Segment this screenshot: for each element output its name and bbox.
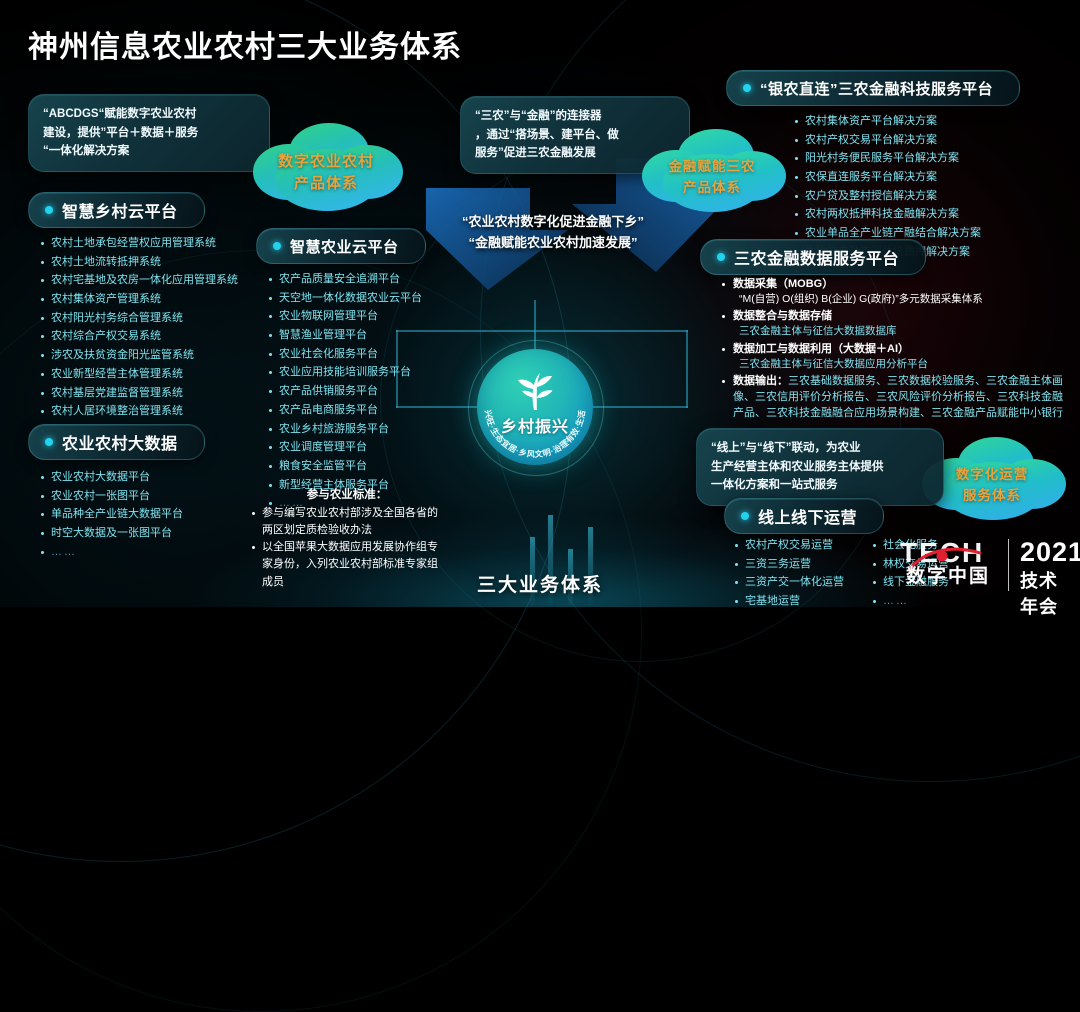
page-title: 神州信息农业农村三大业务体系 (28, 22, 462, 66)
group-sub: 三农金融主体与征信大数据数据库 (733, 324, 1070, 339)
list-item: 农村人居环境整治管理系统 (40, 402, 238, 421)
section-header-online-offline-operation[interactable]: 线上线下运营 (724, 498, 884, 534)
connector-horizontal (396, 330, 688, 332)
callout-line: 一体化方案和一站式服务 (711, 476, 929, 495)
list-smart-agriculture-cloud: 农产品质量安全追溯平台 天空地一体化数据农业云平台 农业物联网管理平台 智慧渔业… (268, 270, 422, 513)
output-text: 数据输出：三农基础数据服务、三农数据校验服务、三农金融主体画像、三农信用评价分析… (733, 373, 1070, 421)
online-offline-callout: “线上”与“线下”联动，为农业 生产经营主体和农业服务主体提供 一体化方案和一站… (696, 428, 944, 506)
bullet-dot-icon (717, 253, 725, 261)
svg-text:产业兴旺·生态宜居·乡风文明·治理有效·生活富裕: 产业兴旺·生态宜居·乡风文明·治理有效·生活富裕 (470, 339, 587, 459)
finance-group: 数据整合与数据存储 三农金融主体与征信大数据数据库 (722, 308, 1070, 339)
list-item: 农村两权抵押科技金融解决方案 (794, 205, 981, 224)
section-title: 线上线下运营 (758, 504, 857, 528)
standards-title: 参与农业标准： (252, 486, 442, 502)
callout-line: “线上”与“线下”联动，为农业 (711, 439, 929, 458)
list-item: 涉农及扶贫资金阳光监管系统 (40, 346, 238, 365)
group-heading: 数据加工与数据利用（大数据＋AI） (733, 341, 1070, 357)
list-item: 时空大数据及一张图平台 (40, 524, 183, 543)
emblem-ring-text: 产业兴旺·生态宜居·乡风文明·治理有效·生活富裕 (475, 347, 595, 467)
bullet-dot-icon (741, 512, 749, 520)
bullet-dot-icon (273, 242, 281, 250)
section-header-agriculture-big-data[interactable]: 农业农村大数据 (28, 424, 205, 460)
list-item: 农村宅基地及农房一体化应用管理系统 (40, 271, 238, 290)
section-title: 智慧乡村云平台 (62, 198, 178, 222)
connector-right (592, 406, 688, 408)
list-item: 农村集体资产平台解决方案 (794, 112, 981, 131)
list-item: 阳光村务便民服务平台解决方案 (794, 149, 981, 168)
logo-conference: 技术年会 (1020, 567, 1070, 619)
standards-item: 参与编写农业农村部涉及全国各省的两区划定质检验收办法 (252, 505, 442, 539)
list-item-ellipsis: …… (40, 543, 183, 562)
center-quote-line-2: “金融赋能农业农村加速发展” (428, 233, 678, 254)
bullet-dot-icon (45, 206, 53, 214)
callout-line: 建设，提供”平台＋数据＋服务 (43, 124, 255, 143)
callout-line: “三农”与“金融”的连接器 (475, 107, 675, 126)
logo-divider (1008, 539, 1009, 591)
group-heading: 数据整合与数据存储 (733, 308, 1070, 324)
rural-revitalization-emblem: 产业兴旺·生态宜居·乡风文明·治理有效·生活富裕 乡村振兴 (477, 349, 593, 465)
group-sub: 三农金融主体与征信大数据应用分析平台 (733, 357, 1070, 372)
bullet-dot-icon (45, 438, 53, 446)
list-item: 农业社会化服务平台 (268, 345, 422, 364)
list-item: 农业物联网管理平台 (268, 307, 422, 326)
list-item: 农业农村一张图平台 (40, 487, 183, 506)
list-item: 单品种全产业链大数据平台 (40, 505, 183, 524)
finance-enable-sannong-cloud: 金融赋能三农 产品体系 (634, 125, 790, 217)
list-item: 农村综合产权交易系统 (40, 327, 238, 346)
finance-output-group: 数据输出：三农基础数据服务、三农数据校验服务、三农金融主体画像、三农信用评价分析… (722, 373, 1070, 421)
output-label: 数据输出： (733, 375, 788, 387)
group-sub: “M(自营) O(组织) B(企业) G(政府)”多元数据采集体系 (733, 292, 1070, 307)
section-header-smart-village-cloud[interactable]: 智慧乡村云平台 (28, 192, 205, 228)
list-item: 农村产权交易运营 (734, 536, 844, 555)
list-item: 农户贷及整村授信解决方案 (794, 187, 981, 206)
list-item: 农业应用技能培训服务平台 (268, 363, 422, 382)
list-item: 农保直连服务平台解决方案 (794, 168, 981, 187)
list-sannong-finance-data: 数据采集（MOBG） “M(自营) O(组织) B(企业) G(政府)”多元数据… (722, 276, 1070, 422)
list-item: 农业农村大数据平台 (40, 468, 183, 487)
finance-group: 数据加工与数据利用（大数据＋AI） 三农金融主体与征信大数据应用分析平台 (722, 341, 1070, 372)
list-item: 粮食安全监管平台 (268, 457, 422, 476)
center-quote: “农业农村数字化促进金融下乡” “金融赋能农业农村加速发展” (428, 212, 678, 254)
group-heading: 数据采集（MOBG） (733, 276, 1070, 292)
callout-line: 生产经营主体和农业服务主体提供 (711, 458, 929, 477)
section-title: 三农金融数据服务平台 (734, 245, 899, 269)
list-item: 农村土地承包经营权应用管理系统 (40, 234, 238, 253)
conference-logo: TECH 数字中国 2021 技术年会 (900, 535, 1070, 597)
ring-text-content: 产业兴旺·生态宜居·乡风文明·治理有效·生活富裕 (470, 339, 587, 459)
emblem-title: 乡村振兴 (477, 413, 593, 437)
section-title: 农业农村大数据 (62, 430, 178, 454)
callout-line: “ABCDGS“赋能数字农业农村 (43, 105, 255, 124)
slide-canvas: 神州信息农业农村三大业务体系 “ABCDGS“赋能数字农业农村 建设，提供”平台… (0, 0, 1080, 607)
list-item: 农村基层党建监督管理系统 (40, 384, 238, 403)
abcdgs-callout: “ABCDGS“赋能数字农业农村 建设，提供”平台＋数据＋服务 “一体化解决方案 (28, 94, 270, 172)
list-item: 农产品供销服务平台 (268, 382, 422, 401)
list-item: 农村阳光村务综合管理系统 (40, 309, 238, 328)
list-item: 农村产权交易平台解决方案 (794, 131, 981, 150)
section-header-bank-farmer-direct[interactable]: “银农直连”三农金融科技服务平台 (726, 70, 1020, 106)
section-title: 智慧农业云平台 (290, 236, 399, 257)
list-item: 农村集体资产管理系统 (40, 290, 238, 309)
section-header-smart-agriculture-cloud[interactable]: 智慧农业云平台 (256, 228, 426, 264)
list-item: 天空地一体化数据农业云平台 (268, 289, 422, 308)
section-header-sannong-finance-data[interactable]: 三农金融数据服务平台 (700, 239, 926, 275)
list-agriculture-big-data: 农业农村大数据平台 农业农村一张图平台 单品种全产业链大数据平台 时空大数据及一… (40, 468, 183, 561)
list-item: 农产品质量安全追溯平台 (268, 270, 422, 289)
list-smart-village-cloud: 农村土地承包经营权应用管理系统 农村土地流转抵押系统 农村宅基地及农房一体化应用… (40, 234, 238, 440)
finance-group: 数据采集（MOBG） “M(自营) O(组织) B(企业) G(政府)”多元数据… (722, 276, 1070, 307)
connector-right-vertical (686, 330, 688, 408)
center-quote-line-1: “农业农村数字化促进金融下乡” (428, 212, 678, 233)
section-title: “银农直连”三农金融科技服务平台 (760, 78, 993, 99)
bullet-dot-icon (743, 84, 751, 92)
digital-agriculture-product-cloud: 数字农业农村 产品体系 (245, 118, 407, 216)
list-item: 智慧渔业管理平台 (268, 326, 422, 345)
list-item: 农产品电商服务平台 (268, 401, 422, 420)
logo-year: 2021 (1020, 537, 1080, 568)
list-item: 农业乡村旅游服务平台 (268, 420, 422, 439)
logo-cn-text: 数字中国 (906, 561, 990, 588)
list-item: 农业新型经营主体管理系统 (40, 365, 238, 384)
list-item: 农村土地流转抵押系统 (40, 253, 238, 272)
list-item: 农业调度管理平台 (268, 438, 422, 457)
callout-line: “一体化解决方案 (43, 142, 255, 161)
